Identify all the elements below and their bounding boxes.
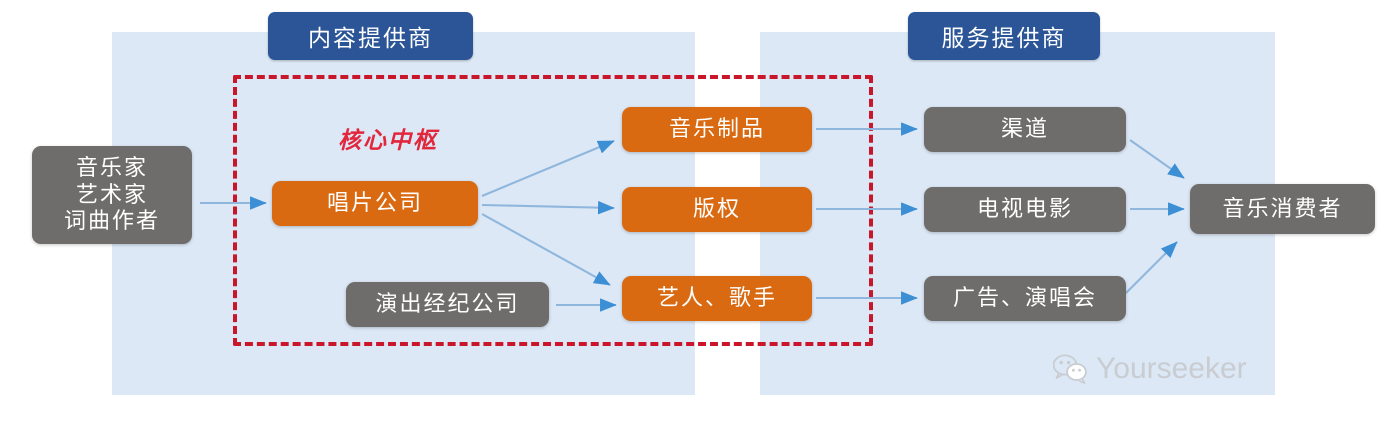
- node-record-company[interactable]: 唱片公司: [272, 181, 478, 226]
- node-creators-line-2: 艺术家: [76, 182, 148, 209]
- node-creators-line-3: 词曲作者: [64, 208, 160, 235]
- node-agency-label: 演出经纪公司: [375, 291, 519, 318]
- node-record-company-label: 唱片公司: [327, 190, 423, 217]
- watermark-text: Yourseeker: [1096, 352, 1247, 386]
- node-channel-label: 渠道: [1001, 116, 1049, 143]
- diagram-canvas: 内容提供商 服务提供商 核心中枢 音乐家 艺术家: [0, 0, 1397, 427]
- node-music-products-label: 音乐制品: [669, 116, 765, 143]
- header-content-provider-label: 内容提供商: [308, 19, 433, 53]
- node-artists-singers[interactable]: 艺人、歌手: [622, 276, 812, 321]
- node-copyright-label: 版权: [693, 196, 741, 223]
- core-hub-label: 核心中枢: [338, 121, 438, 155]
- header-service-provider: 服务提供商: [908, 12, 1100, 60]
- node-artists-singers-label: 艺人、歌手: [657, 285, 777, 312]
- watermark: Yourseeker: [1053, 352, 1247, 386]
- header-content-provider: 内容提供商: [268, 12, 473, 60]
- node-copyright[interactable]: 版权: [622, 187, 812, 232]
- node-channel[interactable]: 渠道: [924, 107, 1126, 152]
- node-tv-film-label: 电视电影: [977, 196, 1073, 223]
- node-creators[interactable]: 音乐家 艺术家 词曲作者: [32, 146, 192, 244]
- node-ads-concerts[interactable]: 广告、演唱会: [924, 276, 1126, 321]
- node-consumers[interactable]: 音乐消费者: [1190, 184, 1375, 234]
- node-ads-concerts-label: 广告、演唱会: [953, 285, 1097, 312]
- header-service-provider-label: 服务提供商: [942, 19, 1067, 53]
- node-music-products[interactable]: 音乐制品: [622, 107, 812, 152]
- node-tv-film[interactable]: 电视电影: [924, 187, 1126, 232]
- node-consumers-label: 音乐消费者: [1222, 196, 1342, 223]
- node-agency[interactable]: 演出经纪公司: [346, 282, 549, 327]
- node-creators-line-1: 音乐家: [76, 155, 148, 182]
- wechat-icon: [1053, 354, 1087, 384]
